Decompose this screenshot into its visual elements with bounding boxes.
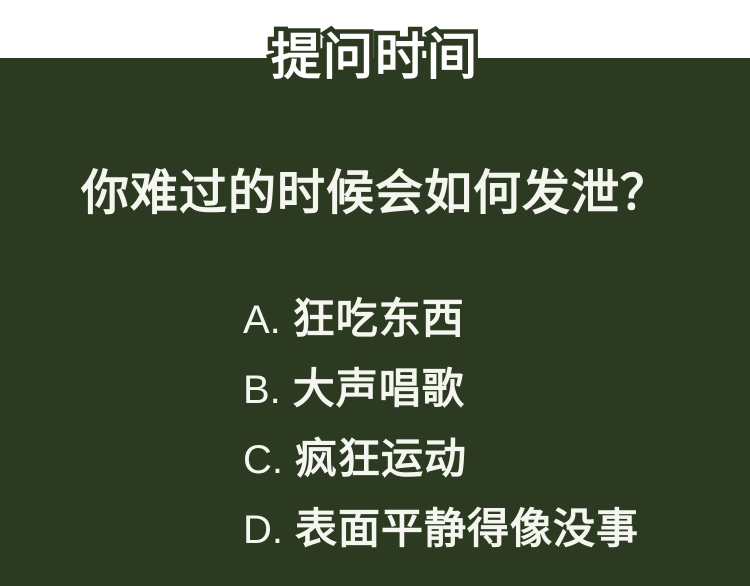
options-list: A. 狂吃东西 B. 大声唱歌 C. 疯狂运动 D. 表面平静得像没事 [243,298,743,578]
question-block: 你难过的时候会如何发泄？ [0,168,750,221]
option-a-label: 狂吃东西 [293,298,465,340]
option-d[interactable]: D. 表面平静得像没事 [243,508,743,578]
option-b-label: 大声唱歌 [293,368,465,410]
option-d-label: 表面平静得像没事 [295,508,639,550]
option-a[interactable]: A. 狂吃东西 [243,298,743,368]
option-a-letter: A. [243,300,281,340]
question-text: 你难过的时候会如何发泄？ [81,168,669,221]
poster-canvas: 提问时间 你难过的时候会如何发泄？ A. 狂吃东西 B. 大声唱歌 C. 疯狂运… [0,0,750,586]
option-d-letter: D. [243,510,283,550]
banner-title-text: 提问时间 [261,28,489,88]
option-c[interactable]: C. 疯狂运动 [243,438,743,508]
option-b-letter: B. [243,370,281,410]
option-b[interactable]: B. 大声唱歌 [243,368,743,438]
option-c-letter: C. [243,440,283,480]
option-c-label: 疯狂运动 [295,438,467,480]
banner-title: 提问时间 [0,28,750,88]
